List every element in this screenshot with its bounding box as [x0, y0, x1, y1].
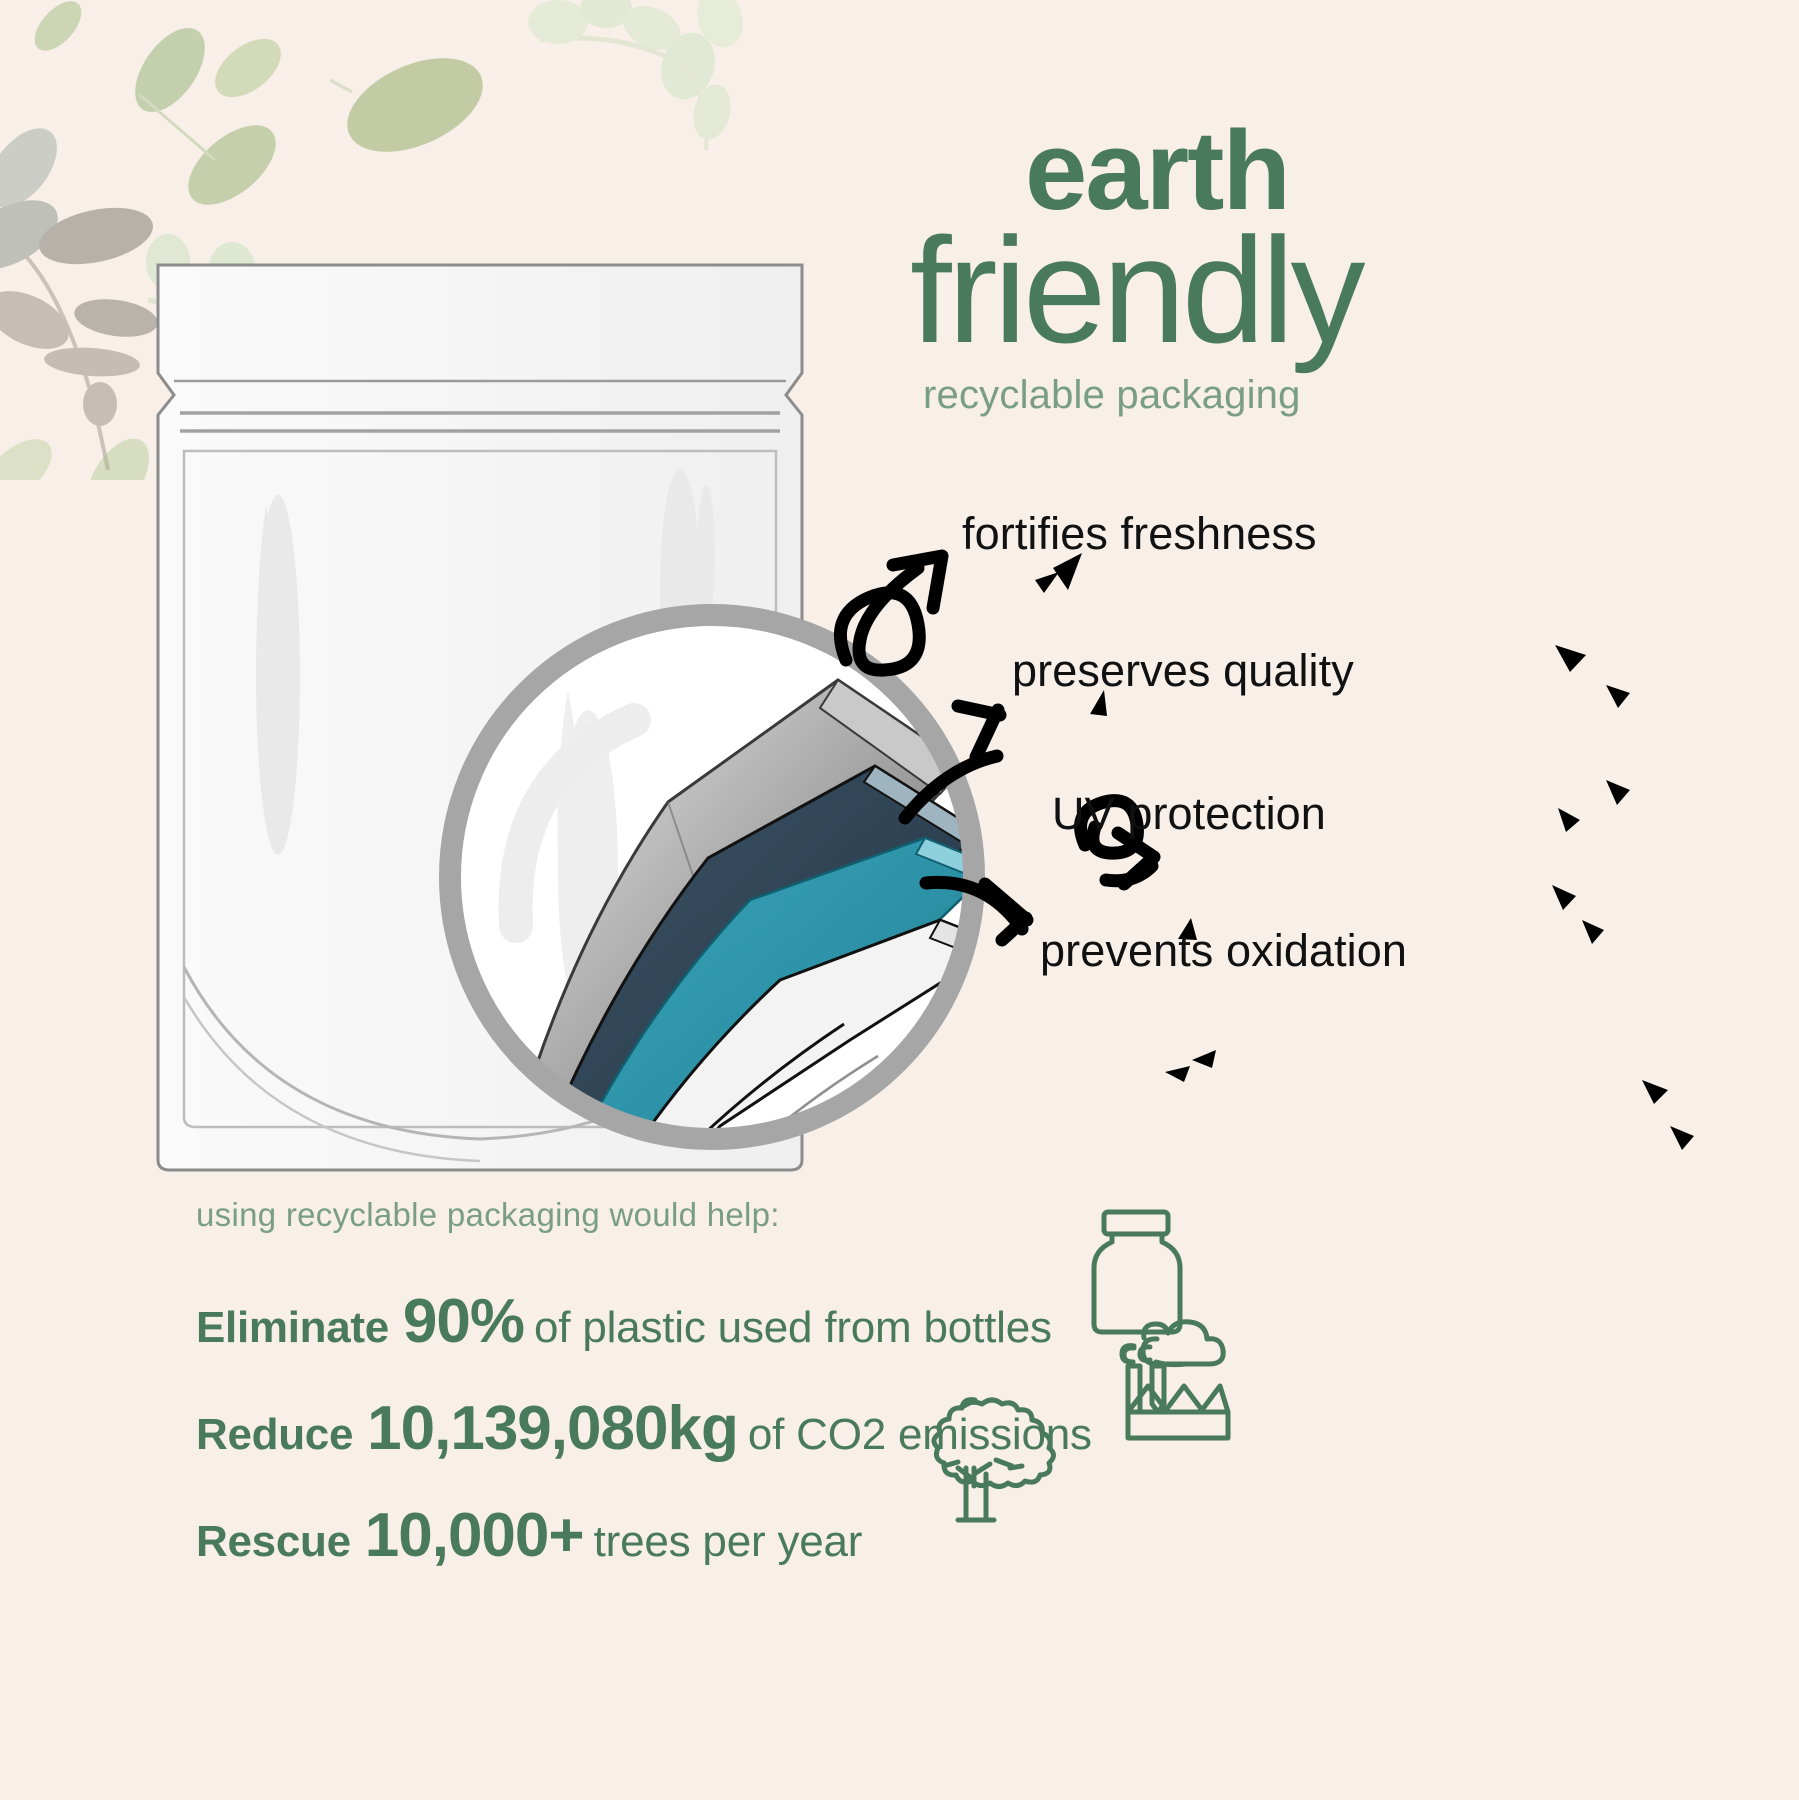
callout-uv-protection: UV protection — [1052, 788, 1326, 840]
stats-block: using recyclable packaging would help: E… — [196, 1196, 1496, 1571]
stat-row: Eliminate 90% of plastic used from bottl… — [196, 1286, 1496, 1357]
headline-block: earth friendly recyclable packaging — [905, 115, 1785, 418]
stat-value: 10,139,080kg — [367, 1393, 738, 1464]
tree-icon — [888, 1396, 1062, 1548]
callout-prevents-oxidation: prevents oxidation — [1040, 925, 1407, 977]
stat-row: Rescue 10,000+ trees per year — [196, 1500, 1496, 1571]
magnifier-circle-film-layers — [420, 570, 1005, 1185]
stat-verb: Reduce — [196, 1410, 353, 1460]
stat-value: 10,000+ — [365, 1500, 584, 1571]
factory-icon — [1112, 1316, 1252, 1450]
callout-fortifies-freshness: fortifies freshness — [962, 508, 1317, 560]
stat-value: 90% — [403, 1286, 524, 1357]
sparkle-marks — [1035, 553, 1694, 1150]
headline-line-2: friendly — [905, 221, 1785, 359]
headline-subtitle: recyclable packaging — [905, 373, 1785, 418]
poster-canvas: earth friendly recyclable packaging — [0, 0, 1799, 1800]
watercolor-eucalyptus-leaves-right — [520, 0, 880, 260]
stat-row: Reduce 10,139,080kg of CO2 emissions — [196, 1393, 1496, 1464]
stat-verb: Rescue — [196, 1517, 351, 1567]
stat-tail: of plastic used from bottles — [534, 1303, 1052, 1353]
stat-verb: Eliminate — [196, 1303, 389, 1353]
callout-preserves-quality: preserves quality — [1012, 645, 1354, 697]
stat-tail: trees per year — [594, 1517, 863, 1567]
stats-lead-text: using recyclable packaging would help: — [196, 1196, 1496, 1234]
